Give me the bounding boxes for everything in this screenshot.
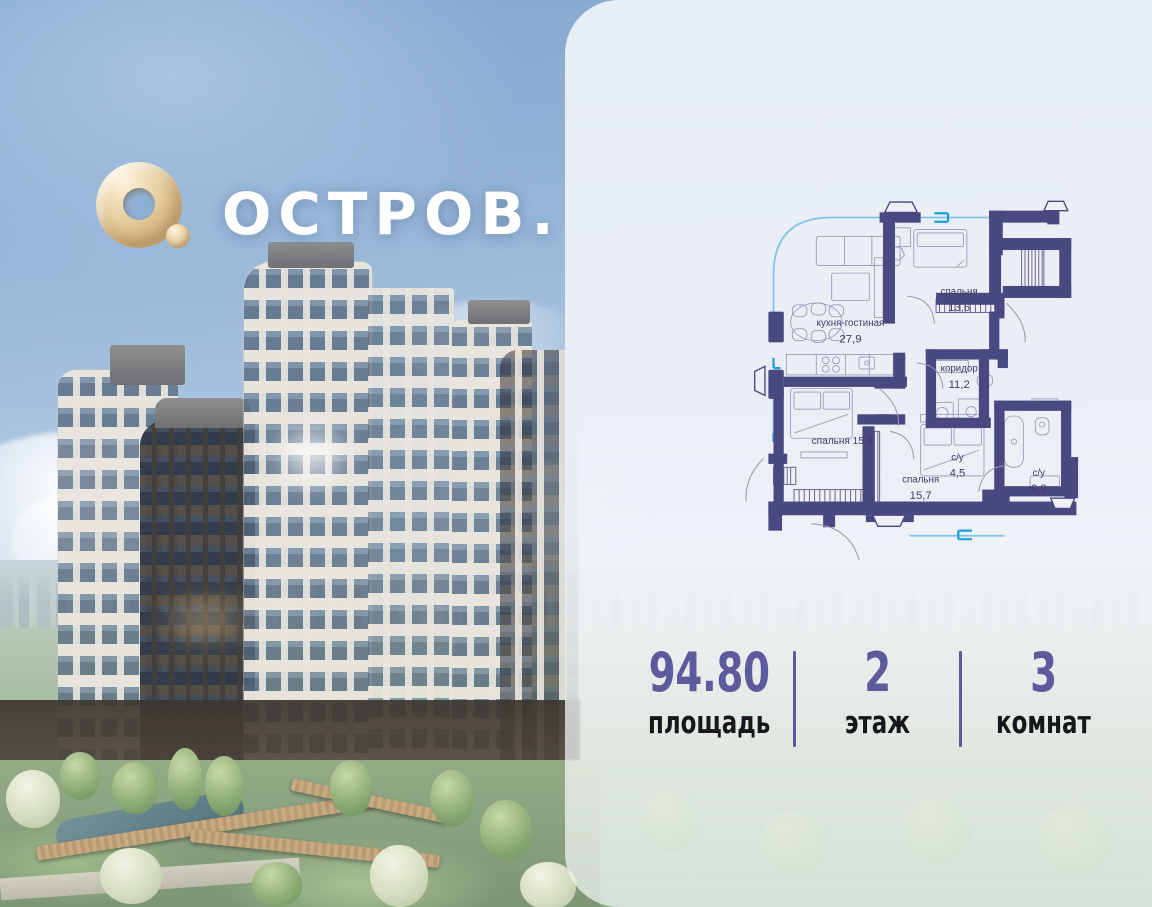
tree xyxy=(205,756,243,816)
stat-floor: 2 этаж xyxy=(796,645,959,741)
apartment-stats: 94.80 площадь 2 этаж 3 комнат xyxy=(625,645,1125,755)
room-label-bedroom-3: спальня xyxy=(902,475,939,486)
room-label-corridor: коридор xyxy=(941,364,979,375)
stat-rooms-value: 3 xyxy=(985,645,1102,701)
room-label-bathroom-2: с/у xyxy=(1032,468,1045,479)
tree xyxy=(6,770,60,828)
tree xyxy=(252,862,302,907)
room-label-bathroom-1: с/у xyxy=(951,452,964,463)
stat-area-label: площадь xyxy=(647,705,772,741)
torus-dot xyxy=(166,224,190,248)
tree xyxy=(330,760,372,816)
tower-roof-box xyxy=(110,345,185,385)
room-area-kitchen-living: 27,9 xyxy=(840,333,862,345)
tree xyxy=(168,748,202,810)
torus-hole xyxy=(123,188,155,220)
tree xyxy=(60,752,100,800)
room-area-corridor: 11,2 xyxy=(949,379,970,391)
stat-area: 94.80 площадь xyxy=(625,645,793,741)
stat-floor-value: 2 xyxy=(819,645,936,701)
tree xyxy=(480,800,532,860)
tree xyxy=(370,845,428,907)
room-label-bedroom-2: спальня 15,9 xyxy=(812,436,873,447)
stat-rooms-label: комнат xyxy=(983,705,1104,741)
apartment-info-card: кухня-гостиная 27,9 спальня 13,6 коридор… xyxy=(565,0,1152,907)
room-label-kitchen-living: кухня-гостиная xyxy=(817,318,885,329)
floorplan[interactable]: кухня-гостиная 27,9 спальня 13,6 коридор… xyxy=(660,185,1130,570)
room-area-bathroom-1: 4,5 xyxy=(950,468,966,480)
furniture-layer xyxy=(786,228,1059,488)
torus-logo-icon xyxy=(96,162,200,266)
stat-rooms: 3 комнат xyxy=(962,645,1125,741)
tower-roof-box xyxy=(155,398,250,428)
room-area-bedroom-1: 13,6 xyxy=(948,302,970,314)
floorplan-svg: кухня-гостиная 27,9 спальня 13,6 коридор… xyxy=(660,185,1130,570)
room-area-bedroom-3: 15,7 xyxy=(910,490,932,502)
tree xyxy=(112,762,158,814)
stat-floor-label: этаж xyxy=(817,705,938,741)
window-glare xyxy=(170,600,240,640)
room-area-bathroom-2: 6,2 xyxy=(1031,483,1047,495)
room-label-bedroom-1: спальня xyxy=(941,287,978,298)
tree xyxy=(430,770,474,826)
stat-area-value: 94.80 xyxy=(649,645,770,701)
brand-name: ОСТРОВ. xyxy=(222,180,561,248)
tree xyxy=(100,848,162,904)
window-glare xyxy=(282,430,342,480)
tower-roof-box xyxy=(468,300,530,324)
brand-logo[interactable]: ОСТРОВ. xyxy=(96,162,561,266)
